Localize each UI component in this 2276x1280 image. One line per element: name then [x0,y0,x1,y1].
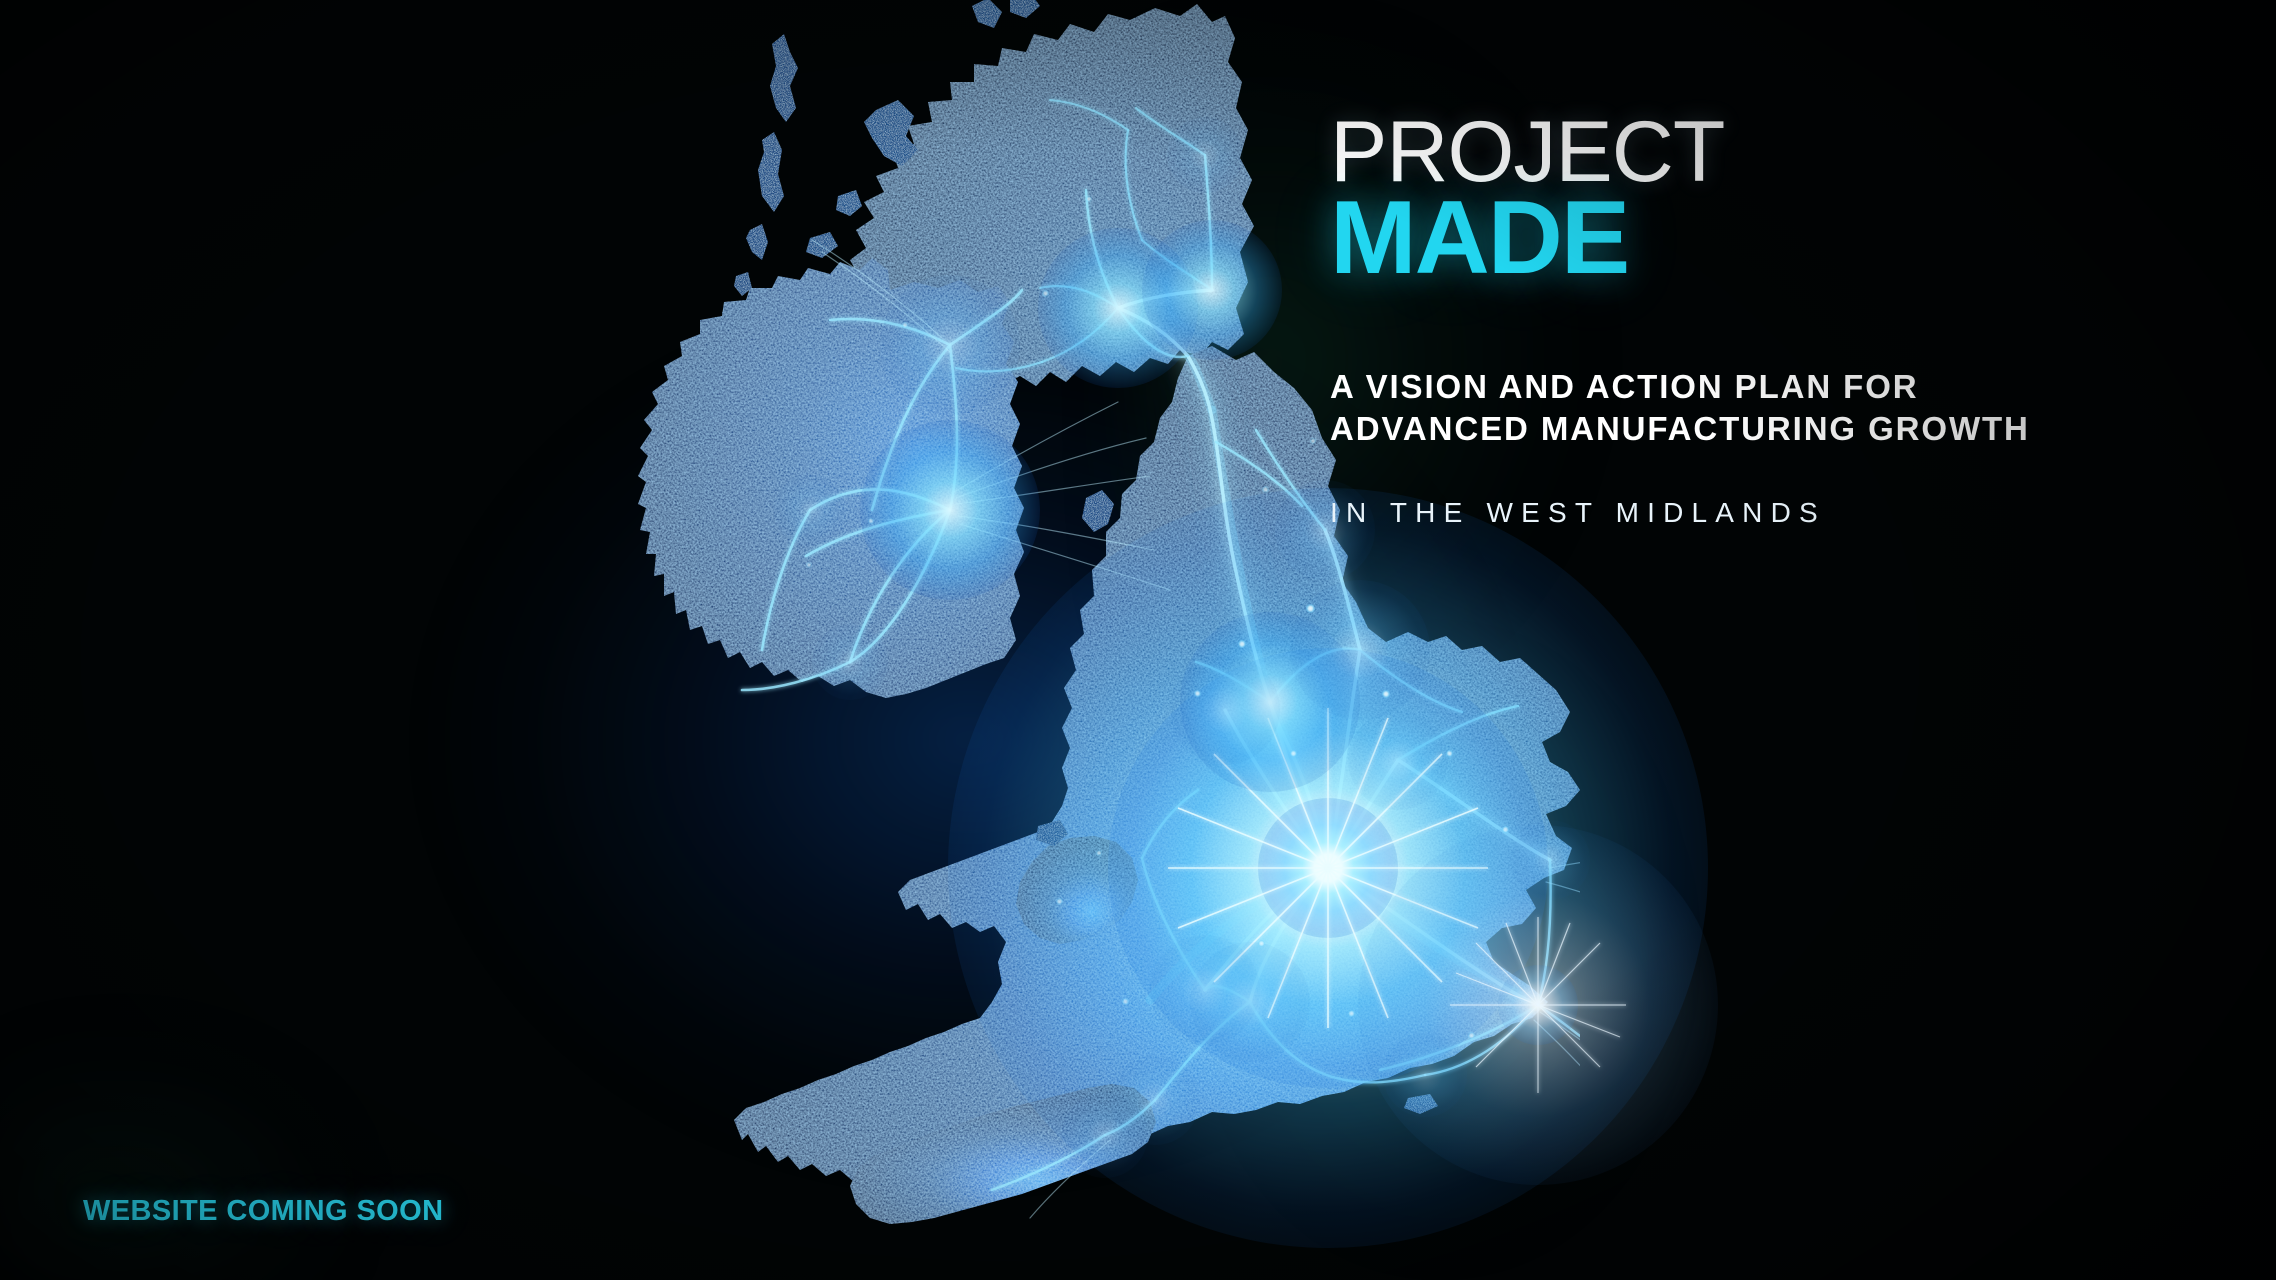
city-light [1086,196,1092,202]
region-label: IN THE WEST MIDLANDS [1330,497,2150,529]
poster-canvas: PROJECT MADE A VISION AND ACTION PLAN FO… [0,0,2276,1280]
city-light [1446,750,1453,757]
city-light [1194,690,1201,697]
city-light [1056,898,1063,905]
city-light [1502,826,1509,833]
city-light [1382,690,1390,698]
subtitle-line-1: A VISION AND ACTION PLAN FOR [1330,366,2150,408]
headline-block: PROJECT MADE A VISION AND ACTION PLAN FO… [1330,118,2150,529]
city-light [1468,1032,1475,1039]
page-title-primary: PROJECT [1330,118,2150,187]
isle-of-wight [1404,1094,1438,1114]
city-light [902,322,908,328]
city-light [1096,850,1102,856]
city-light [1122,998,1129,1005]
city-light [868,518,874,524]
city-light [1258,940,1265,947]
city-light [1310,438,1316,444]
subtitle-line-2: ADVANCED MANUFACTURING GROWTH [1330,408,2150,450]
website-coming-soon-label: WEBSITE COMING SOON [83,1195,443,1228]
isle-of-man [1082,490,1114,532]
city-light [1238,640,1246,648]
subtitle: A VISION AND ACTION PLAN FOR ADVANCED MA… [1330,366,2150,450]
ireland-landmass [638,258,1024,698]
page-title-accent: MADE [1330,195,2150,282]
city-light [806,562,812,568]
city-light [1262,486,1269,493]
city-light [1348,1010,1355,1017]
city-light [1306,604,1315,613]
city-light [1290,750,1297,757]
city-light [1042,290,1049,297]
hub-london-rays [1438,905,1638,1105]
